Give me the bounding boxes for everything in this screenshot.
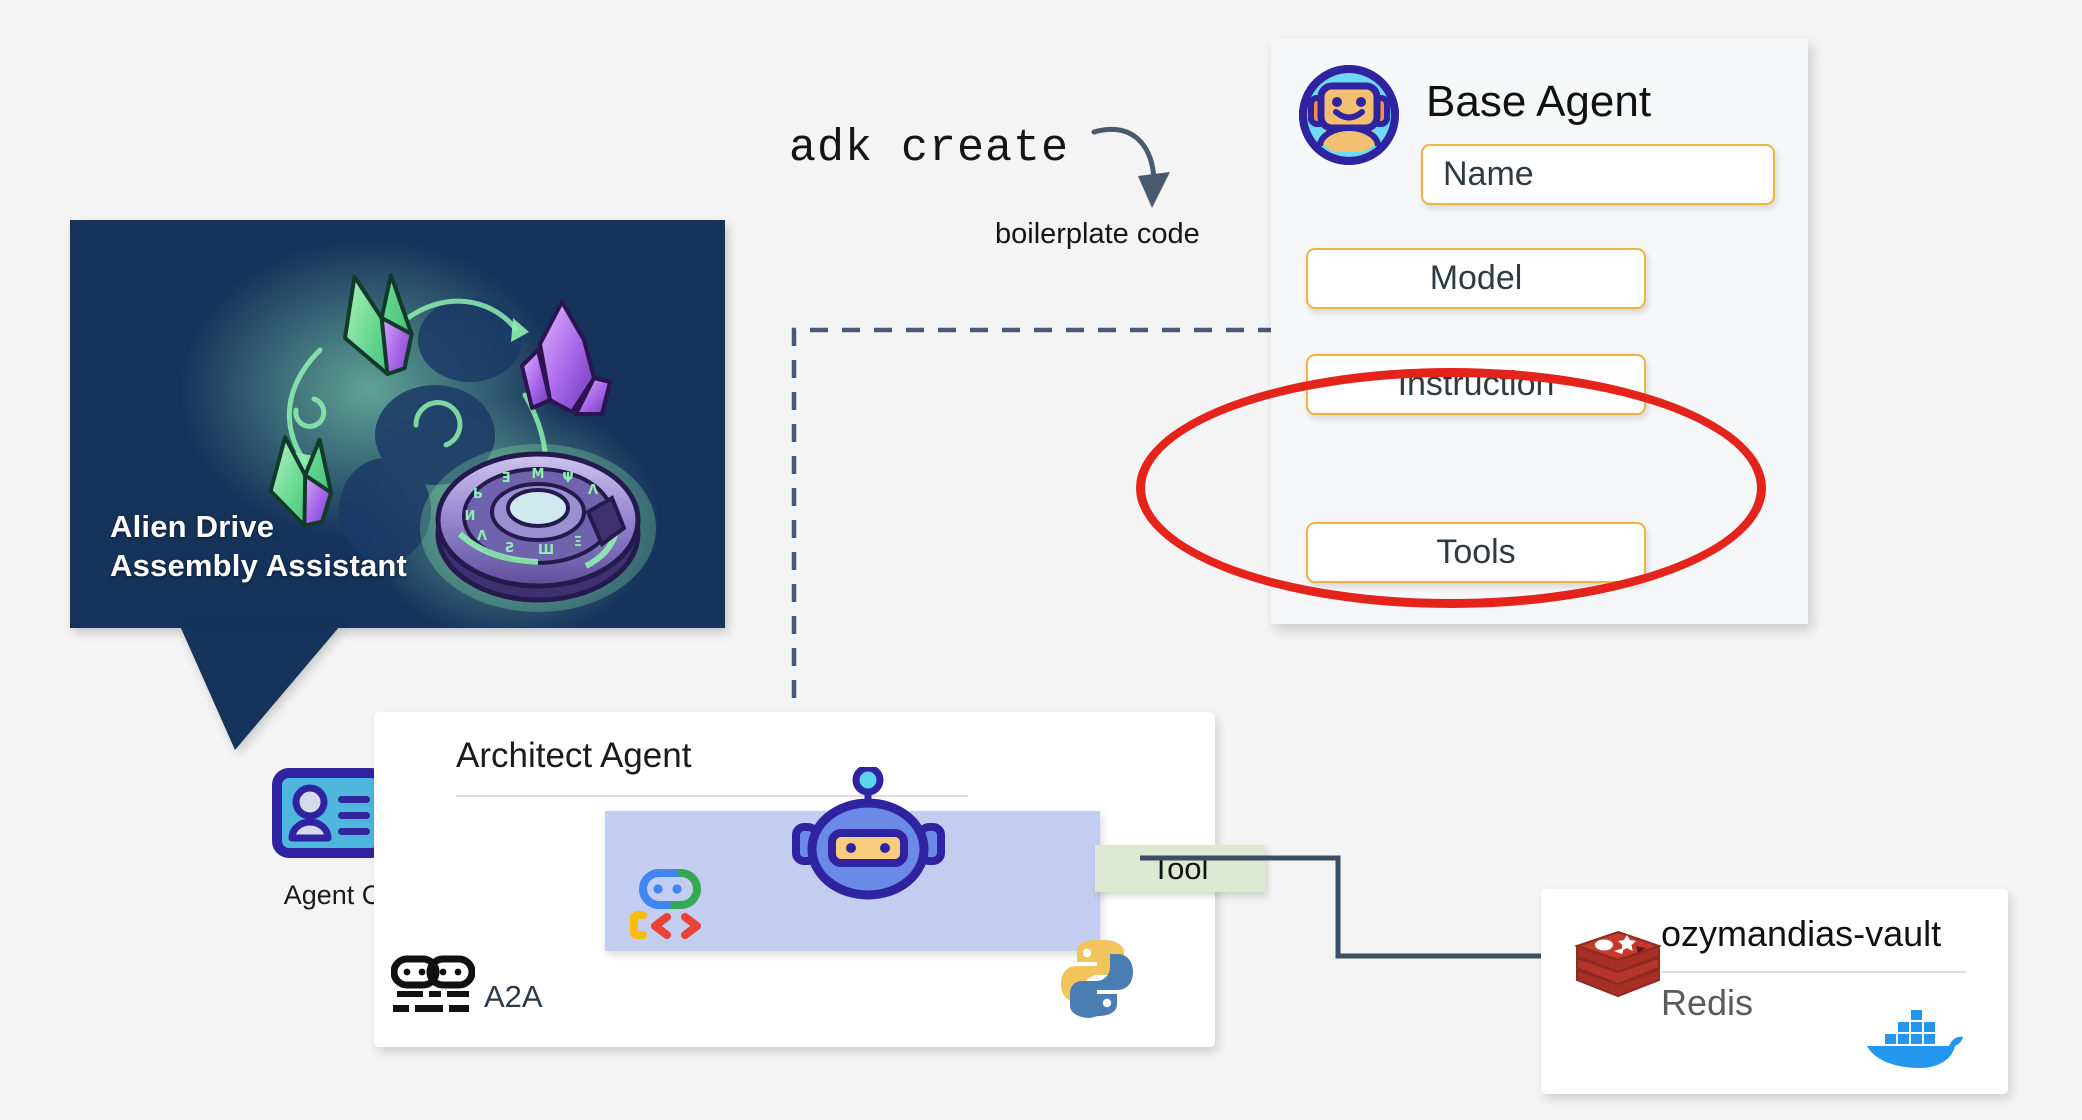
divider bbox=[1661, 971, 1966, 973]
architect-agent-panel: Architect Agent bbox=[374, 712, 1215, 1047]
svg-text:Ƨ: Ƨ bbox=[505, 541, 514, 556]
red-highlight-ellipse bbox=[1136, 368, 1766, 608]
a2a-icon bbox=[391, 955, 475, 1017]
svg-text:Λ: Λ bbox=[588, 483, 598, 498]
svg-text:Ш: Ш bbox=[538, 543, 554, 558]
a2a-label: A2A bbox=[484, 979, 543, 1015]
diagram-canvas: MΨ ΛV ИΞ ШƧ ɅИ ЬƎ Alien Drive Assembly A… bbox=[0, 0, 2082, 1120]
service-type: Redis bbox=[1661, 982, 1753, 1024]
agent-preview-title: Alien Drive Assembly Assistant bbox=[110, 507, 407, 586]
id-card-icon[interactable] bbox=[272, 768, 388, 858]
docker-logo-icon bbox=[1863, 1006, 1968, 1068]
robot-head-icon bbox=[786, 767, 951, 902]
google-adk-logo-icon bbox=[627, 861, 713, 939]
svg-text:И: И bbox=[465, 509, 476, 524]
svg-text:Ξ: Ξ bbox=[574, 535, 582, 550]
svg-text:Ǝ: Ǝ bbox=[502, 471, 511, 486]
speech-bubble-tail bbox=[180, 626, 340, 750]
page-title: Base Agent bbox=[1426, 77, 1651, 127]
service-name: ozymandias-vault bbox=[1661, 913, 1941, 955]
svg-text:M: M bbox=[532, 467, 545, 482]
python-logo-icon bbox=[1056, 937, 1138, 1019]
name-field[interactable]: Name bbox=[1421, 144, 1775, 205]
agent-preview-card[interactable]: MΨ ΛV ИΞ ШƧ ɅИ ЬƎ Alien Drive Assembly A… bbox=[70, 220, 725, 628]
robot-astronaut-icon bbox=[1298, 64, 1400, 166]
redis-logo-icon bbox=[1573, 926, 1663, 1004]
architect-agent-title: Architect Agent bbox=[456, 736, 691, 776]
service-card[interactable]: ozymandias-vault Redis bbox=[1541, 889, 2008, 1094]
tool-to-redis-connector bbox=[1140, 840, 1590, 980]
svg-text:Ʌ: Ʌ bbox=[477, 529, 487, 544]
svg-text:Ψ: Ψ bbox=[562, 471, 573, 486]
adk-create-command: adk create bbox=[789, 123, 1069, 174]
boilerplate-code-label: boilerplate code bbox=[995, 218, 1200, 251]
svg-text:Ь: Ь bbox=[473, 487, 483, 502]
model-field[interactable]: Model bbox=[1306, 248, 1646, 309]
curved-arrow-icon bbox=[1090, 120, 1180, 215]
